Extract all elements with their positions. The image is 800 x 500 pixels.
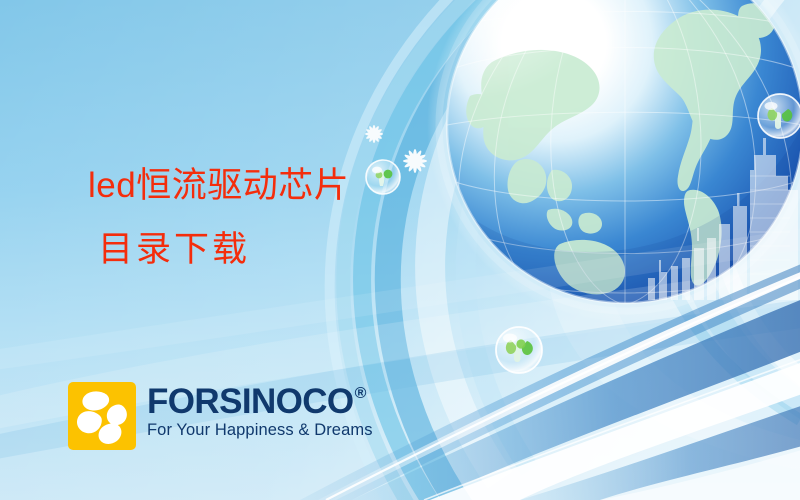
pinwheel-petals-icon — [68, 382, 136, 450]
eco-bubble-small-left — [366, 160, 400, 194]
registered-trademark-icon: ® — [355, 386, 366, 402]
logo-text-block: FORSINOCO® For Your Happiness & Dreams — [147, 382, 373, 440]
eco-bubble-right-edge — [758, 94, 800, 138]
company-logo: FORSINOCO® For Your Happiness & Dreams — [68, 382, 373, 450]
logo-tagline: For Your Happiness & Dreams — [147, 421, 373, 440]
eco-bubble-center — [496, 327, 542, 373]
logo-wordmark: FORSINOCO® — [147, 384, 373, 420]
logo-wordmark-text: FORSINOCO — [147, 384, 354, 420]
headline-line-1: led恒流驱动芯片 — [88, 168, 349, 203]
forsinoco-pinwheel-icon — [68, 382, 136, 450]
headline-line-2: 目录下载 — [98, 232, 250, 267]
promotional-banner: led恒流驱动芯片 目录下载 FORSINOCO® — [0, 0, 800, 500]
